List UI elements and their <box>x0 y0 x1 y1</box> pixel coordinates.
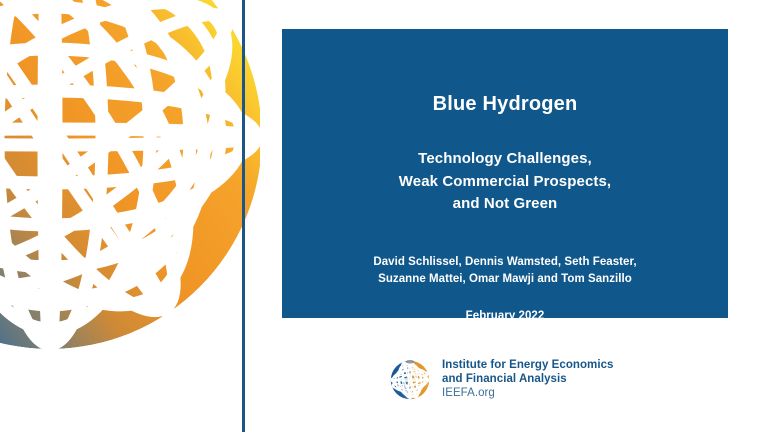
logo-line-2: and Financial Analysis <box>442 372 613 386</box>
subtitle-line-2: Weak Commercial Prospects, <box>399 171 611 194</box>
publication-date: February 2022 <box>466 310 545 322</box>
subtitle-block: Technology Challenges, Weak Commercial P… <box>399 148 611 216</box>
slide-canvas: Blue Hydrogen Technology Challenges, Wea… <box>0 0 768 432</box>
ieefa-logo-text: Institute for Energy Economics and Finan… <box>442 358 613 401</box>
title-panel: Blue Hydrogen Technology Challenges, Wea… <box>282 29 728 318</box>
author-line-2: Suzanne Mattei, Omar Mawji and Tom Sanzi… <box>373 271 636 288</box>
subtitle-line-1: Technology Challenges, <box>399 148 611 171</box>
logo-line-1: Institute for Energy Economics <box>442 358 613 372</box>
ieefa-globe-icon <box>386 355 434 403</box>
authors-block: David Schlissel, Dennis Wamsted, Seth Fe… <box>373 254 636 288</box>
vertical-divider <box>242 0 245 432</box>
globe-mesh-graphic <box>0 0 260 422</box>
logo-url: IEEFA.org <box>442 386 613 401</box>
page-title: Blue Hydrogen <box>433 93 578 115</box>
author-line-1: David Schlissel, Dennis Wamsted, Seth Fe… <box>373 254 636 271</box>
ieefa-logo: Institute for Energy Economics and Finan… <box>386 355 613 403</box>
subtitle-line-3: and Not Green <box>399 193 611 216</box>
